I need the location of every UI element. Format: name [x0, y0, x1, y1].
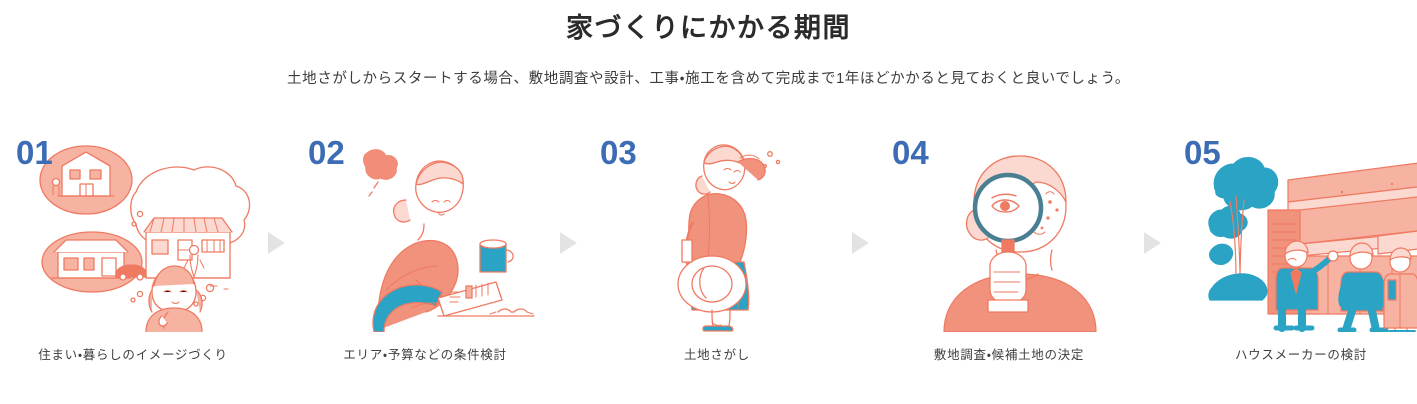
- step-number-04: 04: [892, 136, 929, 169]
- step-item-04[interactable]: 04: [878, 132, 1140, 382]
- triangle-right-icon: [560, 232, 577, 254]
- page-title: 家づくりにかかる期間: [0, 10, 1417, 48]
- page-root: 家づくりにかかる期間 土地さがしからスタートする場合、敷地調査や設計、工事・施工…: [0, 0, 1417, 404]
- step-number-05: 05: [1184, 136, 1221, 169]
- step-separator-1: [264, 132, 294, 382]
- step-separator-3: [848, 132, 878, 382]
- page-subtitle: 土地さがしからスタートする場合、敷地調査や設計、工事・施工を含めて完成まで1年ほ…: [0, 68, 1417, 91]
- step-item-01[interactable]: 01: [2, 132, 264, 382]
- step-separator-4: [1140, 132, 1170, 382]
- step-caption-03: 土地さがし: [586, 347, 848, 365]
- step-item-05[interactable]: 05: [1170, 132, 1417, 382]
- step-caption-04: 敷地調査・候補土地の決定: [878, 347, 1140, 365]
- step-item-02[interactable]: 02: [294, 132, 556, 382]
- triangle-right-icon: [1144, 232, 1161, 254]
- step-number-01: 01: [16, 136, 53, 169]
- triangle-right-icon: [852, 232, 869, 254]
- triangle-right-icon: [268, 232, 285, 254]
- step-caption-05: ハウスメーカーの検討: [1170, 347, 1417, 365]
- woman-with-magnifying-glass-illustration: [904, 140, 1134, 332]
- steps-flow: 01: [0, 132, 1417, 382]
- woman-with-hat-looking-up-illustration: [612, 140, 842, 332]
- step-number-02: 02: [308, 136, 345, 169]
- step-separator-2: [556, 132, 586, 382]
- agent-showing-house-to-couple-illustration: [1196, 140, 1417, 332]
- woman-thinking-about-houses-illustration: [28, 140, 258, 332]
- step-number-03: 03: [600, 136, 637, 169]
- step-caption-02: エリア・予算などの条件検討: [294, 347, 556, 365]
- step-caption-01: 住まい・暮らしのイメージづくり: [2, 347, 264, 365]
- header: 家づくりにかかる期間 土地さがしからスタートする場合、敷地調査や設計、工事・施工…: [0, 0, 1417, 91]
- step-item-03[interactable]: 03: [586, 132, 848, 382]
- person-reading-brochure-with-mug-illustration: [320, 140, 550, 332]
